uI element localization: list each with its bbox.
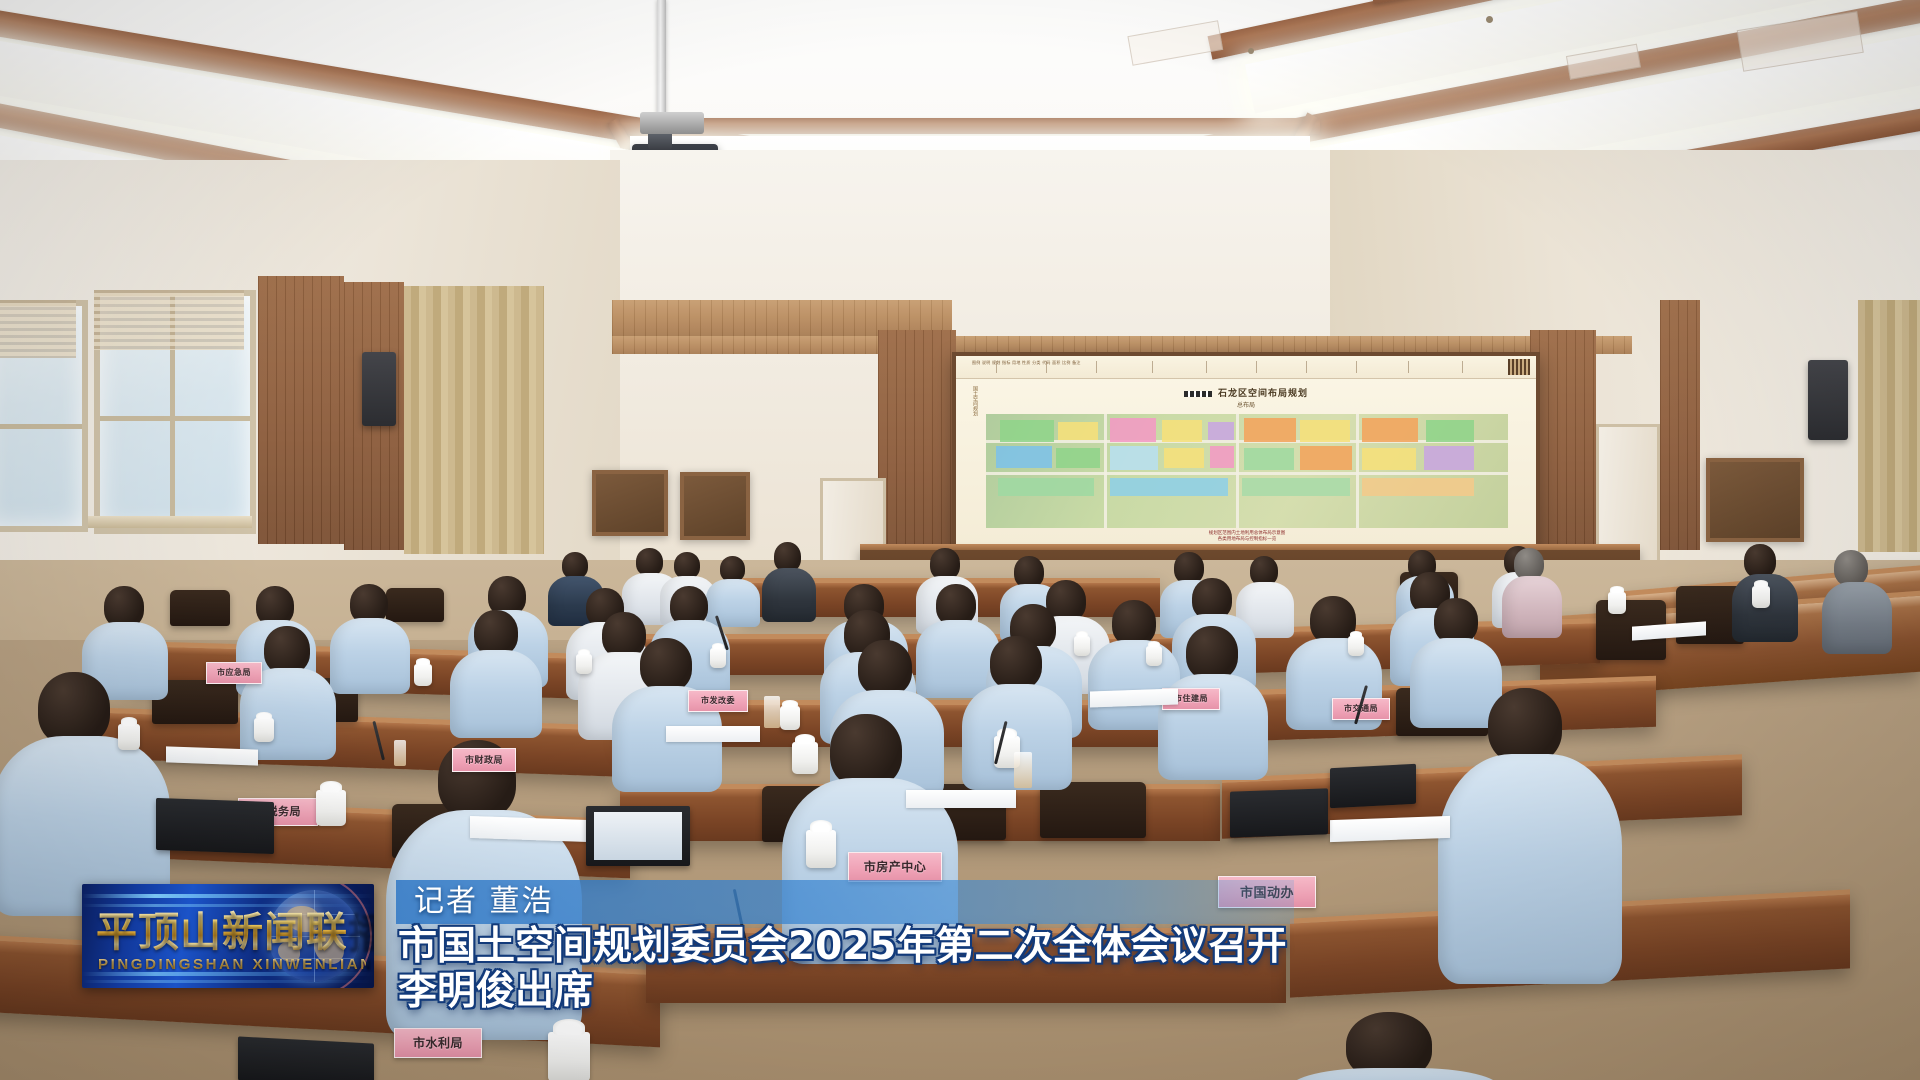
document-paper (1330, 816, 1450, 842)
headline-line-1: 市国土空间规划委员会2025年第二次全体会议召开 (398, 924, 1578, 969)
screen-header-labels: 图例 说明 规划 指标 用地 性质 分类 代码 面积 比例 备注 (972, 360, 1081, 366)
attendee-body (450, 650, 542, 738)
air-vent (1127, 20, 1223, 66)
nameplate-label: 市住建局 (1174, 695, 1208, 703)
nameplate-label: 市房产中心 (864, 861, 927, 873)
window-mullion (0, 424, 82, 429)
sprinkler-icon (1248, 48, 1254, 54)
laptop[interactable] (156, 798, 274, 854)
curtain-left (404, 286, 544, 554)
document-paper (906, 790, 1016, 808)
nameplate-label: 市财政局 (465, 756, 503, 765)
wall-speaker-right (1808, 360, 1848, 440)
wall-speaker-left (362, 352, 396, 426)
projection-screen: 图例 说明 规划 指标 用地 性质 分类 代码 面积 比例 备注 国土空间规划 … (952, 352, 1540, 556)
wall-wood-panel-right (1660, 300, 1700, 550)
channel-name-chinese: 平顶山新闻联播 (96, 910, 346, 954)
water-glass (394, 740, 406, 766)
document-paper (1090, 688, 1178, 707)
nameplate: 市应急局 (206, 662, 262, 684)
attendee-body (1502, 576, 1562, 638)
document-paper (666, 726, 760, 742)
sprinkler-icon (1486, 16, 1493, 23)
teacup (1608, 592, 1626, 614)
attendee-head (264, 626, 310, 674)
wall-wood-panel-left (258, 276, 344, 544)
attendee-body (330, 618, 410, 694)
document-paper (166, 746, 258, 765)
teacup (1348, 636, 1364, 656)
teacup (414, 664, 432, 686)
teacup (780, 706, 800, 730)
attendee-head (636, 548, 663, 576)
teacup (118, 724, 140, 750)
window-blind (94, 290, 244, 350)
ceiling-beam-center (620, 118, 1320, 134)
wall-display-left (592, 470, 668, 536)
nameplate-label: 市水利局 (413, 1037, 463, 1049)
news-headline: 市国土空间规划委员会2025年第二次全体会议召开 李明俊出席 (398, 924, 1578, 1014)
laptop[interactable] (1230, 788, 1328, 837)
screen-legend-line2: 各类用地布局与控制指标一览 (986, 536, 1508, 542)
window-sill (86, 516, 252, 528)
attendee-head (674, 552, 700, 579)
teacup (316, 790, 346, 826)
teacup (1146, 646, 1162, 666)
attendee-head (830, 714, 902, 788)
nameplate: 市水利局 (394, 1028, 482, 1058)
channel-logo: 平顶山新闻联播 PINGDINGSHAN XINWENLIANBO (82, 884, 374, 988)
nameplate: 市发改委 (688, 690, 748, 712)
attendee-head (640, 638, 692, 692)
projector-bracket (640, 112, 704, 134)
nameplate-label: 市应急局 (217, 669, 251, 677)
attendee-body (1822, 582, 1892, 654)
attendee-head (1834, 550, 1868, 586)
attendee-head (1186, 626, 1238, 680)
screen-subtitle: 总布局 (956, 400, 1536, 409)
curtain-right (1858, 300, 1920, 552)
water-glass (764, 696, 780, 728)
tablet[interactable] (238, 1036, 374, 1080)
teacup (710, 648, 726, 668)
projection-screen-content: 图例 说明 规划 指标 用地 性质 分类 代码 面积 比例 备注 国土空间规划 … (956, 356, 1536, 552)
attendee-body (706, 579, 760, 627)
wall-frame-right (1706, 458, 1804, 542)
chair-back (1040, 782, 1146, 838)
attendee-body (762, 568, 816, 622)
window-blind (0, 300, 76, 358)
screen-title-bar-icon (1184, 391, 1212, 397)
teacup (548, 1032, 590, 1080)
broadcast-screenshot: 图例 说明 规划 指标 用地 性质 分类 代码 面积 比例 备注 国土空间规划 … (0, 0, 1920, 1080)
screen-header-strip: 图例 说明 规划 指标 用地 性质 分类 代码 面积 比例 备注 (956, 356, 1536, 379)
screen-map-graphic (986, 414, 1508, 528)
chair-back (386, 588, 444, 622)
attendee-head (990, 636, 1042, 690)
chair-back (170, 590, 230, 626)
screen-title: 石龙区空间布局规划 (956, 386, 1536, 399)
teacup (1752, 586, 1770, 608)
attendee-head (1744, 544, 1776, 578)
teacup (576, 654, 592, 674)
document-paper (470, 816, 588, 842)
wall-monitor-left (680, 472, 750, 540)
teacup (1074, 636, 1090, 656)
attendee-head (1488, 688, 1562, 764)
water-glass (1014, 752, 1032, 788)
headline-line-2: 李明俊出席 (398, 969, 1578, 1014)
laptop-screen-content (594, 812, 682, 860)
back-wall-wood-column (878, 330, 956, 560)
screen-corner-mark (1508, 359, 1530, 375)
nameplate: 市房产中心 (848, 852, 942, 882)
teacup (806, 830, 836, 868)
reporter-credit: 记者 董浩 (414, 884, 554, 920)
attendee-head (562, 552, 588, 579)
teacup (254, 718, 274, 742)
teacup (792, 742, 818, 774)
nameplate: 市财政局 (452, 748, 516, 772)
channel-name-pinyin: PINGDINGSHAN XINWENLIANBO (98, 956, 366, 973)
attendee-head (858, 640, 912, 696)
tablet[interactable] (1330, 764, 1416, 809)
nameplate-label: 市发改委 (701, 697, 735, 705)
window-mullion (100, 416, 250, 421)
attendee-head (38, 672, 110, 746)
